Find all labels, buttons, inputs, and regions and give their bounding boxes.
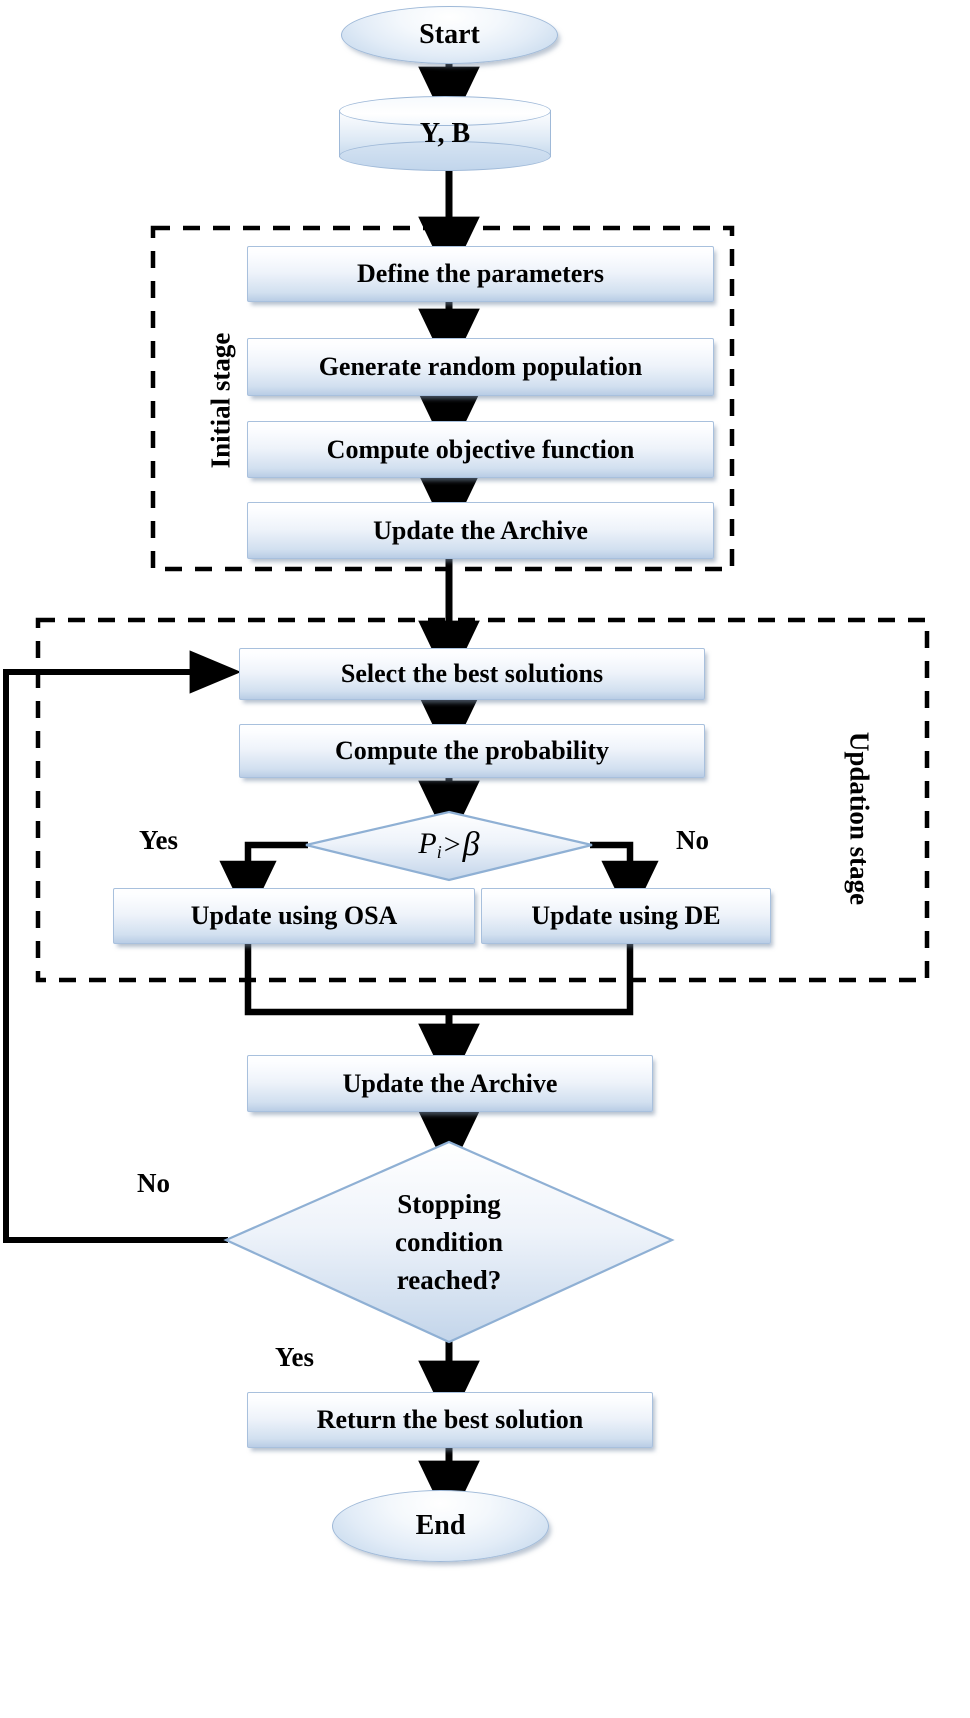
- node-define-parameters-label: Define the parameters: [357, 259, 604, 288]
- decision-probability-formula[interactable]: Pi>β: [349, 822, 549, 868]
- edge-de-to-merge: [449, 944, 630, 1012]
- node-define-parameters[interactable]: Define the parameters: [247, 246, 714, 302]
- node-update-archive-updation-label: Update the Archive: [343, 1069, 558, 1098]
- edge-stop-no-loopback: [6, 672, 228, 1240]
- node-update-using-osa[interactable]: Update using OSA: [113, 888, 475, 944]
- decision-stopping-line-2: condition: [395, 1223, 503, 1261]
- edge-decision-yes-to-osa: [248, 845, 308, 888]
- edge-label-prob-no: No: [676, 825, 709, 856]
- node-update-using-de[interactable]: Update using DE: [481, 888, 771, 944]
- node-compute-probability-label: Compute the probability: [335, 736, 609, 765]
- node-generate-population-label: Generate random population: [319, 352, 643, 381]
- node-input-data[interactable]: Y, B: [339, 96, 551, 171]
- decision-stopping-line-3: reached?: [397, 1261, 501, 1299]
- formula-variable: Pi: [418, 827, 441, 863]
- edge-label-stop-yes: Yes: [275, 1342, 314, 1373]
- node-select-best-solutions[interactable]: Select the best solutions: [239, 648, 705, 700]
- decision-stopping-line-1: Stopping: [397, 1185, 501, 1223]
- edge-decision-no-to-de: [590, 845, 630, 888]
- node-input-label: Y, B: [339, 96, 551, 171]
- node-return-best-solution[interactable]: Return the best solution: [247, 1392, 653, 1448]
- node-compute-probability[interactable]: Compute the probability: [239, 724, 705, 778]
- decision-stopping-shape: [226, 1142, 672, 1342]
- node-update-archive-initial-label: Update the Archive: [373, 516, 588, 545]
- node-update-archive-initial[interactable]: Update the Archive: [247, 502, 714, 559]
- node-start-label: Start: [419, 19, 480, 50]
- formula-operator: >: [442, 828, 463, 862]
- formula-beta: β: [463, 826, 480, 864]
- group-label-initial-stage: Initial stage: [206, 321, 237, 481]
- node-select-best-solutions-label: Select the best solutions: [341, 659, 603, 688]
- node-compute-objective-label: Compute objective function: [327, 435, 635, 464]
- node-compute-objective[interactable]: Compute objective function: [247, 421, 714, 478]
- node-end[interactable]: End: [332, 1490, 549, 1562]
- node-update-using-de-label: Update using DE: [531, 901, 720, 930]
- edge-label-prob-yes: Yes: [139, 825, 178, 856]
- edge-osa-to-merge: [248, 944, 449, 1012]
- node-return-best-solution-label: Return the best solution: [317, 1405, 584, 1434]
- flowchart-canvas: Start Y, B Define the parameters Generat…: [0, 0, 970, 1718]
- node-generate-population[interactable]: Generate random population: [247, 338, 714, 396]
- group-label-updation-stage: Updation stage: [844, 719, 875, 919]
- edge-label-stop-no: No: [137, 1168, 170, 1199]
- node-start[interactable]: Start: [341, 6, 558, 64]
- node-update-using-osa-label: Update using OSA: [191, 901, 398, 930]
- node-update-archive-updation[interactable]: Update the Archive: [247, 1055, 653, 1112]
- decision-probability-shape: [306, 812, 592, 880]
- node-end-label: End: [416, 1510, 466, 1541]
- decision-stopping-text[interactable]: Stopping condition reached?: [339, 1172, 559, 1312]
